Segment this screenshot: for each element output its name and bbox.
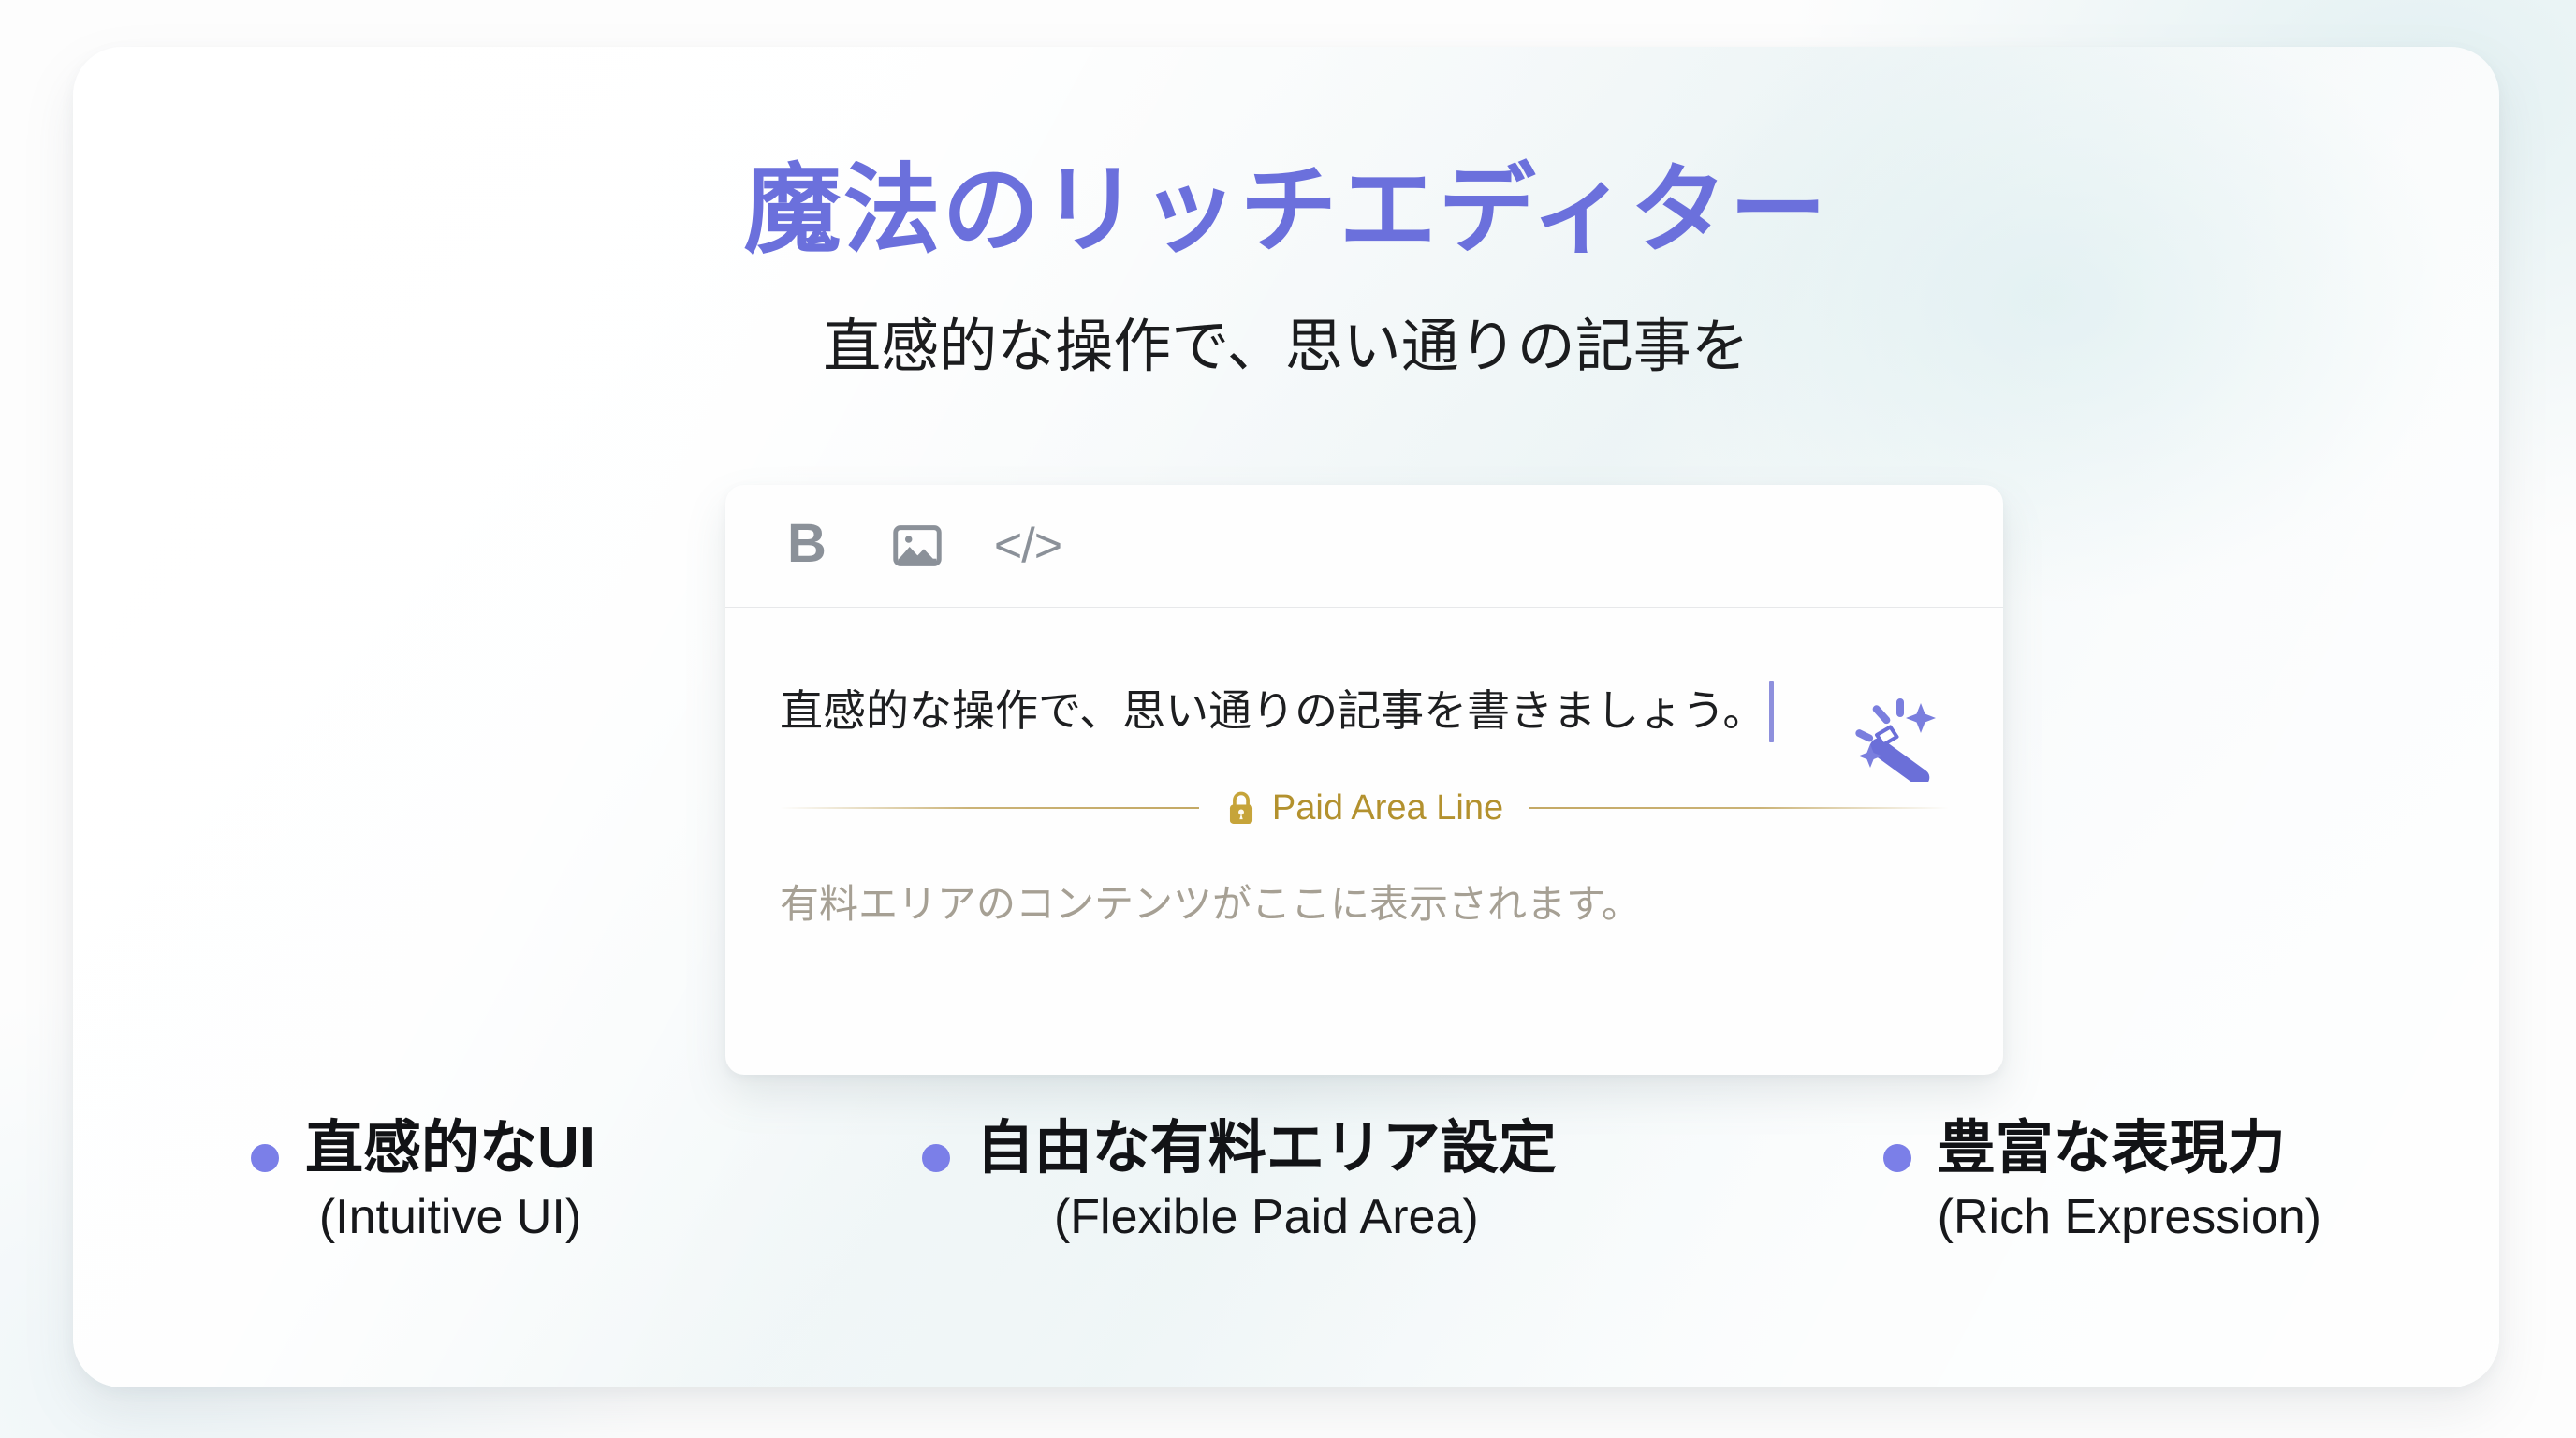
paid-area-placeholder: 有料エリアのコンテンツがここに表示されます。 — [780, 879, 1949, 931]
paid-area-divider: Paid Area Line — [780, 782, 1949, 834]
screenshot-stage: 魔法のリッチエディター 直感的な操作で、思い通りの記事を B — [0, 0, 2576, 1438]
hero-panel-inner: 魔法のリッチエディター 直感的な操作で、思い通りの記事を B — [73, 47, 2499, 1387]
code-button[interactable]: </> — [997, 515, 1059, 577]
editor-toolbar: B </> — [725, 485, 2003, 608]
feature-label-en: (Rich Expression) — [1938, 1188, 2321, 1246]
paid-area-divider-label: Paid Area Line — [1199, 788, 1529, 829]
bullet-dot-icon — [1883, 1144, 1911, 1172]
divider-rule-right — [1529, 807, 1949, 809]
editor-content-text: 直感的な操作で、思い通りの記事を書きましょう。 — [780, 685, 1765, 737]
hero-panel: 魔法のリッチエディター 直感的な操作で、思い通りの記事を B — [73, 47, 2499, 1387]
feature-item-intuitive-ui: 直感的なUI (Intuitive UI) — [251, 1114, 595, 1247]
page-title: 魔法のリッチエディター — [73, 157, 2499, 264]
code-icon: </> — [994, 521, 1061, 570]
bullet-dot-icon — [251, 1144, 279, 1172]
feature-texts: 豊富な表現力 (Rich Expression) — [1938, 1114, 2321, 1247]
page-subtitle: 直感的な操作で、思い通りの記事を — [73, 313, 2499, 382]
lock-icon — [1225, 789, 1257, 827]
bullet-dot-icon — [922, 1144, 950, 1172]
editor-content-line[interactable]: 直感的な操作で、思い通りの記事を書きましょう。 — [780, 679, 1949, 744]
bold-icon: B — [787, 517, 827, 571]
paid-area-divider-text: Paid Area Line — [1272, 788, 1503, 829]
image-icon — [888, 517, 946, 575]
editor-body[interactable]: 直感的な操作で、思い通りの記事を書きましょう。 — [725, 679, 2003, 931]
rich-editor-card: B </> — [725, 485, 2003, 1075]
feature-texts: 自由な有料エリア設定 (Flexible Paid Area) — [976, 1114, 1557, 1247]
text-cursor — [1769, 681, 1774, 742]
feature-label-ja: 豊富な表現力 — [1938, 1114, 2321, 1182]
feature-label-ja: 直感的なUI — [305, 1114, 595, 1182]
image-button[interactable] — [886, 515, 948, 577]
magic-wand-icon — [1843, 684, 1946, 782]
feature-item-rich-expression: 豊富な表現力 (Rich Expression) — [1883, 1114, 2321, 1247]
bold-button[interactable]: B — [776, 515, 838, 577]
feature-item-flexible-paid-area: 自由な有料エリア設定 (Flexible Paid Area) — [922, 1114, 1557, 1247]
feature-list: 直感的なUI (Intuitive UI) 自由な有料エリア設定 (Flexib… — [251, 1114, 2321, 1247]
divider-rule-left — [780, 807, 1199, 809]
feature-label-ja: 自由な有料エリア設定 — [976, 1114, 1557, 1182]
feature-label-en: (Flexible Paid Area) — [976, 1188, 1557, 1246]
feature-label-en: (Intuitive UI) — [305, 1188, 595, 1246]
feature-texts: 直感的なUI (Intuitive UI) — [305, 1114, 595, 1247]
